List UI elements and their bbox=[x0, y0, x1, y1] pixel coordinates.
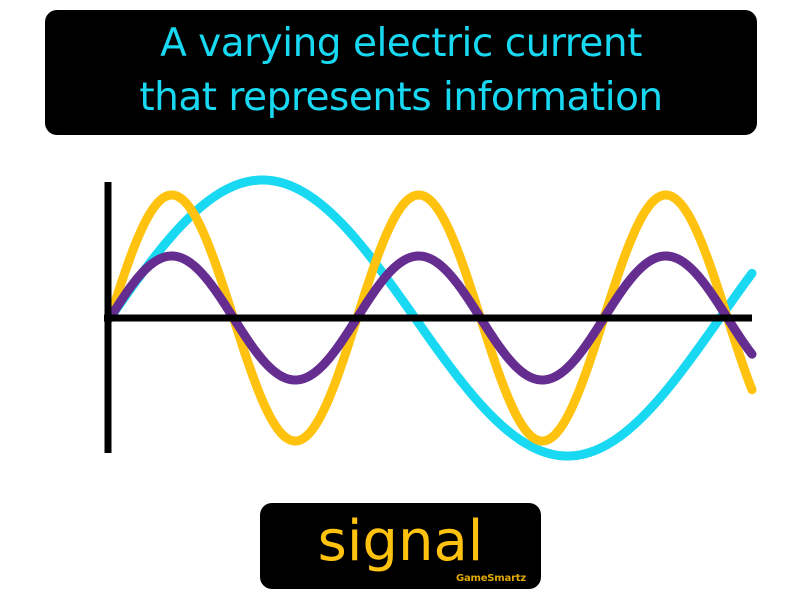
watermark-label: GameSmartz bbox=[456, 573, 526, 584]
wave-chart-svg bbox=[0, 140, 800, 490]
definition-line-1: A varying electric current bbox=[160, 17, 642, 71]
definition-line-2: that represents information bbox=[139, 71, 662, 125]
definition-banner: A varying electric current that represen… bbox=[45, 10, 757, 135]
term-label-box: signal GameSmartz bbox=[260, 503, 541, 589]
wave-diagram bbox=[0, 140, 800, 490]
